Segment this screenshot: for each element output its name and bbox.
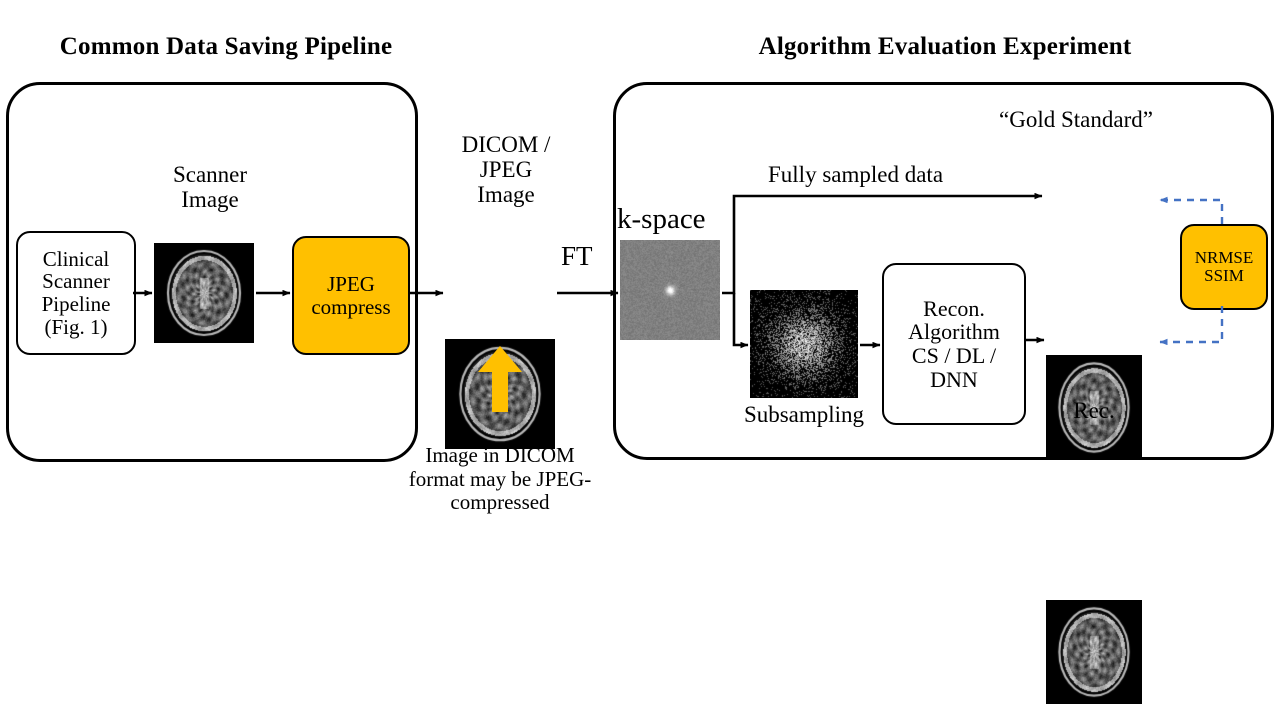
reconstructed-brain-image [1046, 600, 1142, 704]
connector-arrows [0, 0, 1279, 544]
